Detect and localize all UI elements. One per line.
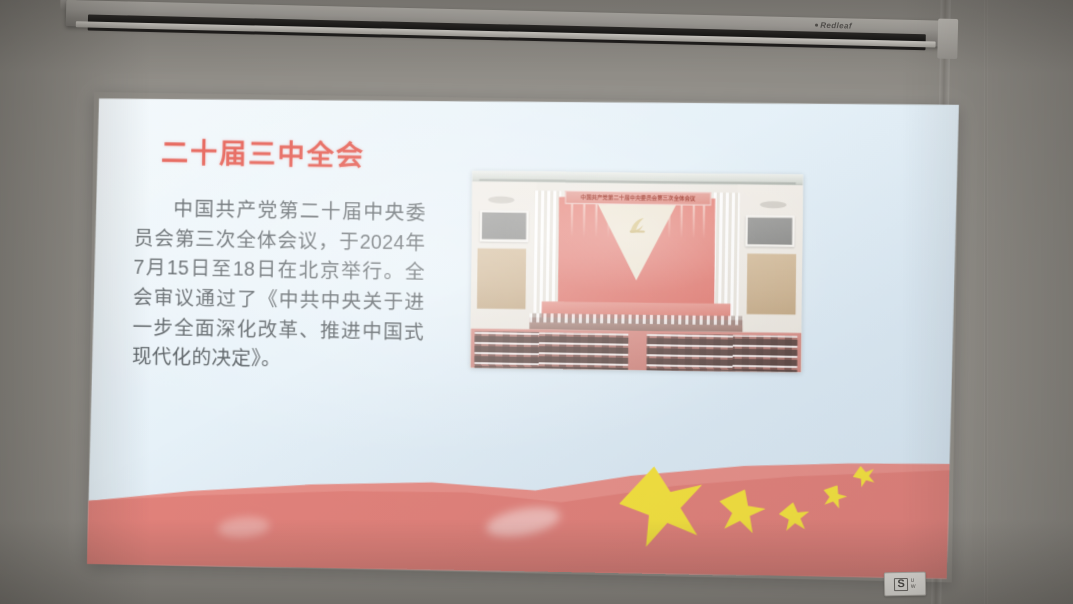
- slide-canvas: 二十届三中全会 中国共产党第二十届中央委员会第三次全体会议，于2024年7月15…: [87, 92, 959, 582]
- wall-sticker-submarks: U W: [911, 578, 916, 589]
- photo-seating-left: [474, 332, 628, 370]
- photo-curtain-right: [712, 193, 740, 316]
- projected-slide: 二十届三中全会 中国共产党第二十届中央委员会第三次全体会议，于2024年7月15…: [87, 92, 959, 582]
- star-icon-2: [715, 486, 768, 537]
- star-icon-large: [613, 457, 715, 554]
- photo-hall-interior: 中国共产党第二十届中央委员会第三次全体会议: [470, 182, 803, 372]
- photo-center-aisle: [628, 331, 647, 371]
- photo-wall-medallion-right: [760, 201, 787, 208]
- photo-banner-text: 中国共产党第二十届中央委员会第三次全体会议: [581, 194, 696, 203]
- photo-wainscot-right: [747, 253, 796, 314]
- casing-brand-text: Redleaf: [820, 21, 852, 31]
- star-icon-4: [820, 482, 850, 511]
- star-icon-3: [778, 501, 811, 533]
- photo-curtain-left: [534, 191, 561, 314]
- photo-banner: 中国共产党第二十届中央委员会第三次全体会议: [565, 191, 711, 206]
- casing-bracket-right: [937, 19, 958, 59]
- wall-corner-seam-secondary: [984, 0, 988, 604]
- photo-wall-panel-right: [745, 215, 794, 247]
- wall-sticker-submark-top: U: [911, 578, 916, 583]
- photo-wall-medallion-left: [488, 196, 514, 203]
- wall-sticker-submark-bottom: W: [911, 584, 916, 589]
- photo-scene: Redleaf 二十届三中全会 中国共产党第二十届中央委员会第三次全体会议，于2…: [0, 0, 1073, 604]
- photo-seating-right: [643, 334, 798, 372]
- wall-sticker-glyph: S: [894, 577, 908, 590]
- wall-sticker: S U W: [884, 572, 926, 597]
- casing-brand-logo: Redleaf: [815, 21, 852, 31]
- slide-body-text: 中国共产党第二十届中央委员会第三次全体会议，于2024年7月15日至18日在北京…: [132, 195, 426, 378]
- photo-wainscot-left: [477, 248, 526, 309]
- hammer-and-sickle-icon: [626, 214, 651, 236]
- slide-photo: 中国共产党第二十届中央委员会第三次全体会议: [470, 171, 803, 372]
- photo-wall-panel-left: [480, 210, 529, 242]
- star-icon-5: [850, 462, 879, 490]
- slide-title: 二十届三中全会: [161, 131, 365, 173]
- decoration-stars: [612, 446, 919, 557]
